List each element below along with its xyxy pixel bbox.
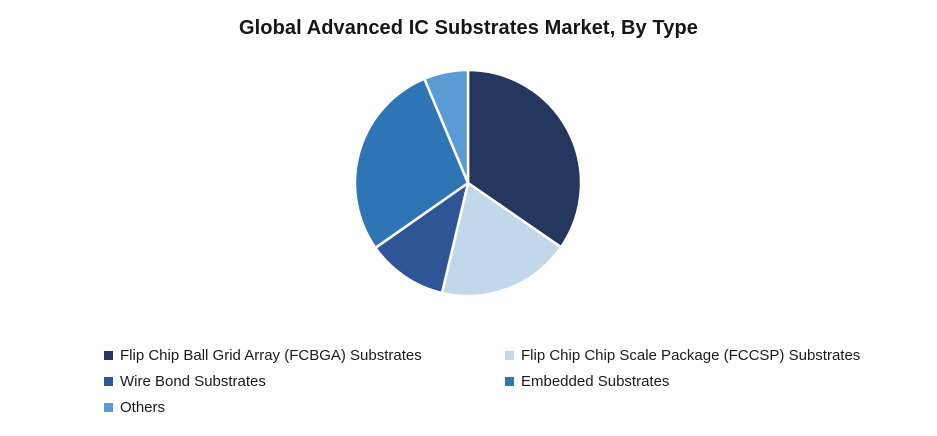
legend-row: Others xyxy=(104,394,904,420)
legend-swatch-icon xyxy=(505,351,514,360)
legend-swatch-icon xyxy=(104,377,113,386)
legend-item-label: Wire Bond Substrates xyxy=(120,373,266,390)
pie-chart-figure: Global Advanced IC Substrates Market, By… xyxy=(0,0,937,436)
legend-item-others[interactable]: Others xyxy=(104,394,505,420)
legend-item-wire-bond-substrates[interactable]: Wire Bond Substrates xyxy=(104,368,505,394)
legend-item-label: Embedded Substrates xyxy=(521,373,669,390)
legend-row: Wire Bond Substrates Embedded Substrates xyxy=(104,368,904,394)
legend-item-label: Flip Chip Ball Grid Array (FCBGA) Substr… xyxy=(120,347,422,364)
legend-item-embedded-substrates[interactable]: Embedded Substrates xyxy=(505,368,669,394)
legend-swatch-icon xyxy=(104,403,113,412)
chart-legend: Flip Chip Ball Grid Array (FCBGA) Substr… xyxy=(104,342,904,420)
pie-slice-group xyxy=(355,70,581,296)
legend-item-fcbga-substrates[interactable]: Flip Chip Ball Grid Array (FCBGA) Substr… xyxy=(104,342,505,368)
pie-chart-plot-area xyxy=(355,70,581,296)
legend-item-label: Flip Chip Chip Scale Package (FCCSP) Sub… xyxy=(521,347,860,364)
pie-svg xyxy=(355,70,581,296)
legend-item-label: Others xyxy=(120,399,165,416)
chart-title: Global Advanced IC Substrates Market, By… xyxy=(0,17,937,40)
legend-row: Flip Chip Ball Grid Array (FCBGA) Substr… xyxy=(104,342,904,368)
legend-swatch-icon xyxy=(505,377,514,386)
legend-swatch-icon xyxy=(104,351,113,360)
legend-item-fccsp-substrates[interactable]: Flip Chip Chip Scale Package (FCCSP) Sub… xyxy=(505,342,860,368)
